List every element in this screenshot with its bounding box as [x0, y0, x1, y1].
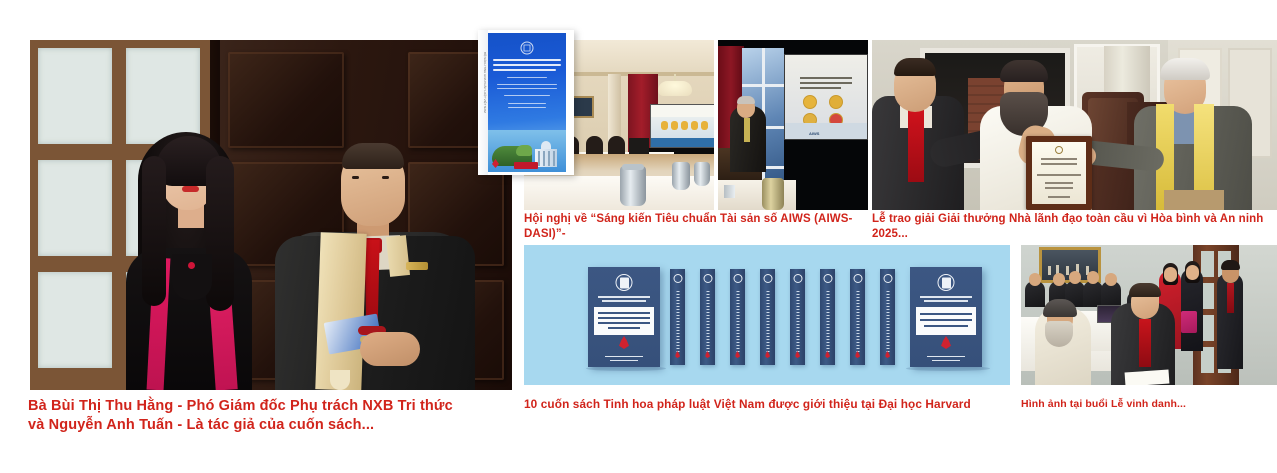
- chandelier: [654, 74, 696, 102]
- gallery-stage: BỘ SÁCH TINH HOA PHÁP LUẬT VIỆT NAM: [0, 0, 1277, 473]
- caption-conference-room[interactable]: Hội nghị về “Sáng kiến Tiêu chuẩn Tài sả…: [524, 212, 869, 242]
- book-spine: [670, 269, 685, 365]
- book-front-cover-left: [588, 267, 660, 367]
- book-cover-overlay[interactable]: BỘ SÁCH TINH HOA PHÁP LUẬT VIỆT NAM: [478, 30, 574, 175]
- harvard-seal-icon: [520, 41, 534, 55]
- lotus-logo-icon: [619, 336, 629, 349]
- projection-screen: AIWS: [784, 54, 868, 140]
- water-jug: [620, 166, 646, 206]
- book-spine: [850, 269, 865, 365]
- photo-award-ceremony[interactable]: [872, 40, 1277, 210]
- harvard-seal-icon: [938, 274, 955, 291]
- book-spine: [880, 269, 895, 365]
- book-spine: [790, 269, 805, 365]
- photo-honoring-ceremony[interactable]: [1021, 245, 1277, 385]
- lotus-logo-icon: [941, 336, 951, 349]
- spine-text: BỘ SÁCH TINH HOA PHÁP LUẬT VIỆT NAM: [479, 52, 487, 152]
- certificate-seal-icon: [1055, 146, 1063, 154]
- photo-main-portrait[interactable]: [30, 40, 512, 390]
- caption-main-portrait[interactable]: Bà Bùi Thị Thu Hằng - Phó Giám đốc Phụ t…: [28, 397, 508, 435]
- photo-books-display[interactable]: [524, 245, 1010, 385]
- presentation-screen: [650, 104, 714, 148]
- book-front-face: [488, 33, 566, 172]
- book-spine: [820, 269, 835, 365]
- aiws-logo: AIWS: [809, 131, 819, 136]
- book-spine: [760, 269, 775, 365]
- photo-speaker-presentation[interactable]: AIWS: [718, 40, 868, 210]
- book-spine: [700, 269, 715, 365]
- caption-award-ceremony[interactable]: Lễ trao giải Giải thưởng Nhà lãnh đạo to…: [872, 212, 1272, 242]
- water-jug: [672, 162, 690, 190]
- caption-honoring-ceremony[interactable]: Hình ảnh tại buổi Lễ vinh danh...: [1021, 398, 1271, 412]
- caption-books-display[interactable]: 10 cuốn sách Tinh hoa pháp luật Việt Nam…: [524, 397, 1004, 412]
- dome-building-icon: [535, 141, 557, 167]
- water-jug: [762, 178, 784, 210]
- handbag: [1181, 311, 1197, 333]
- book-front-cover-right: [910, 267, 982, 367]
- book-spine: [730, 269, 745, 365]
- harvard-seal-icon: [616, 274, 633, 291]
- water-jug: [694, 162, 710, 186]
